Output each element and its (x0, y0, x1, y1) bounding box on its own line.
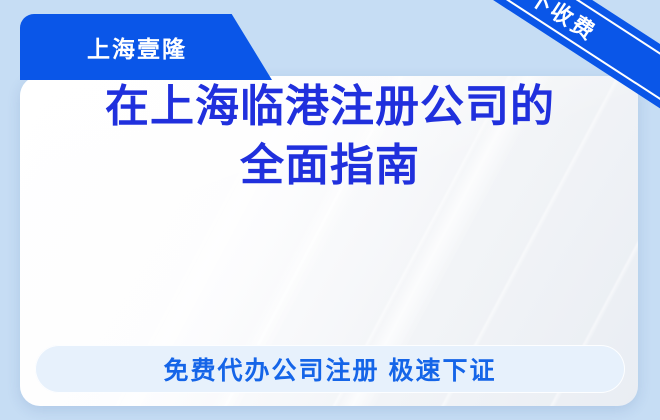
cta-pill-label: 免费代办公司注册 极速下证 (164, 351, 497, 387)
corner-ribbon-label: 不成功 不收费 (453, 0, 604, 48)
cta-pill[interactable]: 免费代办公司注册 极速下证 (35, 345, 625, 393)
poster-canvas: 上海壹隆 在上海临港注册公司的 全面指南 免费代办公司注册 极速下证 不成功 不… (0, 0, 660, 420)
brand-tab-label: 上海壹隆 (87, 30, 187, 64)
brand-tab[interactable]: 上海壹隆 (20, 14, 272, 80)
